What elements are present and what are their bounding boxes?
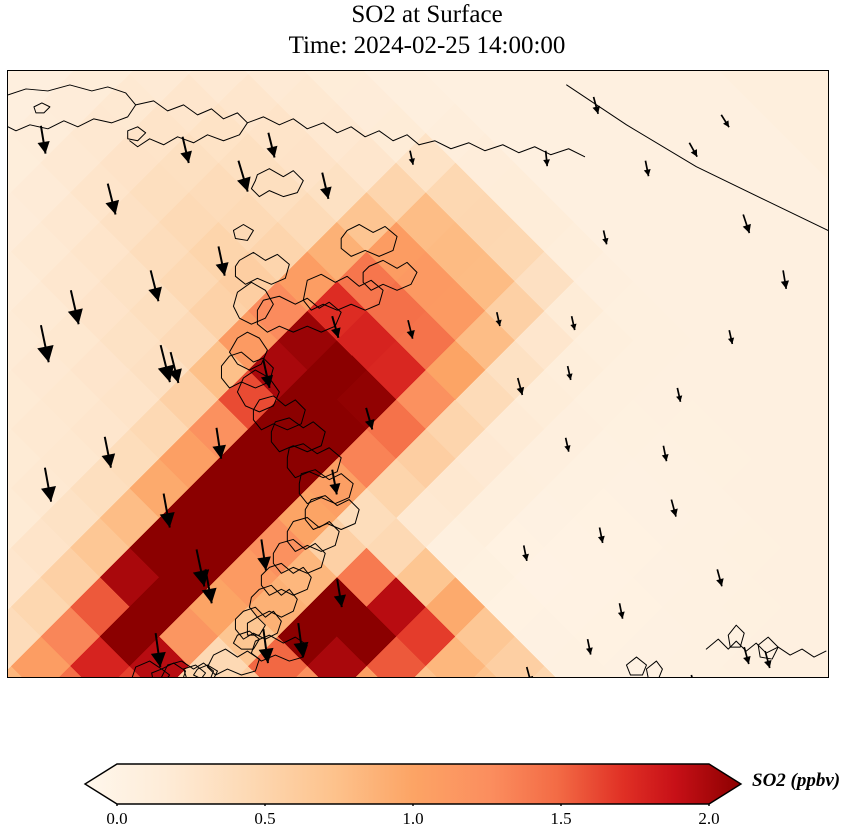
colorbar-gradient [83,762,743,806]
colorbar-body [85,764,741,804]
figure-title-block: SO2 at Surface Time: 2024-02-25 14:00:00 [0,0,854,61]
colorbar-axis-label: SO2 (ppbv) [752,770,840,792]
colorbar-tick-labels: 0.00.51.01.52.0 [83,806,743,832]
figure-subtitle-timestamp: Time: 2024-02-25 14:00:00 [0,30,854,61]
colorbar-tick-label: 1.0 [402,809,423,829]
page-title: SO2 at Surface [0,0,854,30]
colorbar-tick-label: 0.0 [106,809,127,829]
colorbar-tick-label: 0.5 [254,809,275,829]
colorbar-tick-label: 1.5 [550,809,571,829]
colorbar-tick-label: 2.0 [698,809,719,829]
colorbar[interactable]: 0.00.51.01.52.0 [83,762,743,806]
map-heatmap-canvas [8,71,828,677]
map-axes[interactable] [7,70,829,678]
